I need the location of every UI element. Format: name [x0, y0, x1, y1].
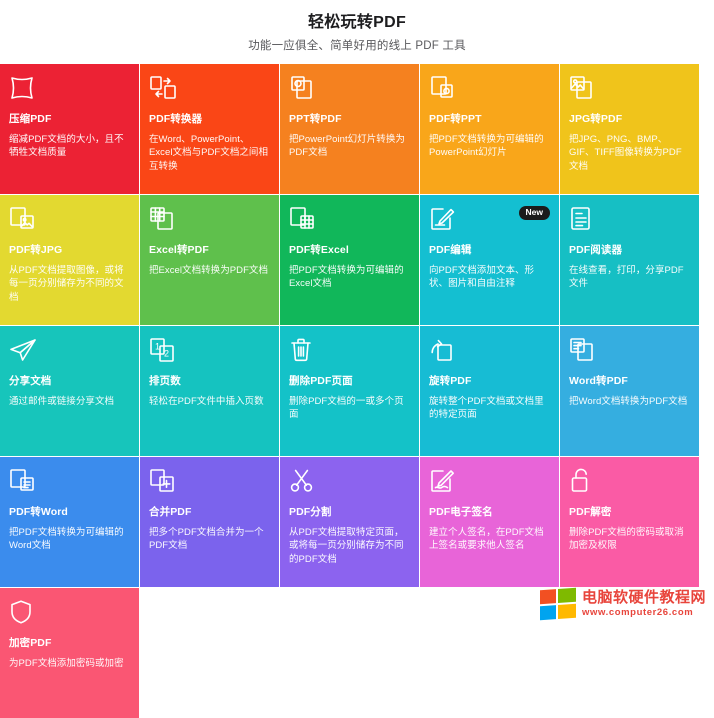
new-badge: New: [519, 206, 550, 220]
tool-card-ppt-to-pdf[interactable]: PPT转PDF把PowerPoint幻灯片转换为PDF文档: [280, 64, 419, 194]
tool-card-title: PDF阅读器: [569, 244, 690, 257]
tool-card-description: 从PDF文档提取特定页面，或将每一页分别储存为不同的PDF文档: [289, 526, 410, 567]
tool-card-merge-pdf[interactable]: 合并PDF把多个PDF文档合并为一个PDF文档: [140, 457, 279, 587]
logo-square-blue: [540, 605, 556, 620]
tool-card-title: Word转PDF: [569, 375, 690, 388]
image-file-icon: [569, 75, 690, 105]
tool-card-description: 在Word、PowerPoint、Excel文档与PDF文档之间相互转换: [149, 133, 270, 174]
tool-card-description: 旋转整个PDF文档或文档里的特定页面: [429, 395, 550, 423]
tool-card-rotate-pdf[interactable]: 旋转PDF旋转整个PDF文档或文档里的特定页面: [420, 326, 559, 456]
paper-plane-icon: [9, 337, 130, 367]
convert-arrows-icon: [149, 75, 270, 105]
tool-card-description: 建立个人签名，在PDF文档上签名或要求他人签名: [429, 526, 550, 554]
tool-card-title: PDF转Excel: [289, 244, 410, 257]
rotate-icon: [429, 337, 550, 367]
excel-file-icon: [149, 206, 270, 236]
pdf-to-excel-icon: [289, 206, 410, 236]
logo-square-yellow: [558, 604, 576, 619]
tool-card-description: 从PDF文档提取图像，或将每一页分别储存为不同的文档: [9, 264, 130, 305]
tool-card-description: 为PDF文档添加密码或加密: [9, 657, 130, 671]
tool-card-title: JPG转PDF: [569, 113, 690, 126]
watermark-text: 电脑软硬件教程网 www.computer26.com: [582, 590, 706, 619]
unlock-icon: [569, 468, 690, 498]
tool-card-description: 删除PDF文档的一或多个页面: [289, 395, 410, 423]
tool-card-title: PDF解密: [569, 506, 690, 519]
document-lines-icon: [569, 206, 690, 236]
tool-card-title: 旋转PDF: [429, 375, 550, 388]
pdf-to-word-icon: [9, 468, 130, 498]
tool-card-excel-to-pdf[interactable]: Excel转PDF把Excel文档转换为PDF文档: [140, 195, 279, 325]
tool-card-compress-pdf[interactable]: 压缩PDF缩减PDF文档的大小，且不牺牲文档质量: [0, 64, 139, 194]
tool-card-pdf-to-excel[interactable]: PDF转Excel把PDF文档转换为可编辑的Excel文档: [280, 195, 419, 325]
tool-card-pdf-encrypt[interactable]: 加密PDF为PDF文档添加密码或加密: [0, 588, 139, 718]
tool-card-title: 分享文档: [9, 375, 130, 388]
tool-card-title: PDF分割: [289, 506, 410, 519]
tool-card-pdf-reader[interactable]: PDF阅读器在线查看，打印，分享PDF文件: [560, 195, 699, 325]
trash-icon: [289, 337, 410, 367]
tool-card-description: 把多个PDF文档合并为一个PDF文档: [149, 526, 270, 554]
scissors-icon: [289, 468, 410, 498]
page-header: 轻松玩转PDF 功能一应俱全、简单好用的线上 PDF 工具: [0, 0, 714, 53]
tool-card-description: 通过邮件或链接分享文档: [9, 395, 130, 409]
tool-card-description: 在线查看，打印，分享PDF文件: [569, 264, 690, 292]
tool-card-description: 把PDF文档转换为可编辑的PowerPoint幻灯片: [429, 133, 550, 161]
tool-card-title: PDF转换器: [149, 113, 270, 126]
tool-card-description: 把PowerPoint幻灯片转换为PDF文档: [289, 133, 410, 161]
tool-card-description: 把PDF文档转换为可编辑的Excel文档: [289, 264, 410, 292]
tool-card-title: 排页数: [149, 375, 270, 388]
tool-card-split-pdf[interactable]: PDF分割从PDF文档提取特定页面，或将每一页分别储存为不同的PDF文档: [280, 457, 419, 587]
tool-card-share-document[interactable]: 分享文档通过邮件或链接分享文档: [0, 326, 139, 456]
tool-card-pdf-to-ppt[interactable]: PDF转PPT把PDF文档转换为可编辑的PowerPoint幻灯片: [420, 64, 559, 194]
tool-card-title: PDF转PPT: [429, 113, 550, 126]
tool-card-title: 加密PDF: [9, 637, 130, 650]
tool-card-description: 轻松在PDF文件中插入页数: [149, 395, 270, 409]
tool-card-grid: 压缩PDF缩减PDF文档的大小，且不牺牲文档质量PDF转换器在Word、Powe…: [0, 64, 714, 718]
tool-card-title: Excel转PDF: [149, 244, 270, 257]
logo-square-red: [540, 589, 556, 604]
tool-card-jpg-to-pdf[interactable]: JPG转PDF把JPG、PNG、BMP、GIF、TIFF图像转换为PDF文档: [560, 64, 699, 194]
tool-card-title: 压缩PDF: [9, 113, 130, 126]
svg-text:1: 1: [155, 342, 160, 352]
tool-card-title: PDF转JPG: [9, 244, 130, 257]
tool-card-description: 把Word文档转换为PDF文档: [569, 395, 690, 409]
tool-card-pdf-esign[interactable]: PDF电子签名建立个人签名，在PDF文档上签名或要求他人签名: [420, 457, 559, 587]
pdf-to-ppt-icon: [429, 75, 550, 105]
tool-card-description: 缩减PDF文档的大小，且不牺牲文档质量: [9, 133, 130, 161]
tool-card-delete-pdf-pages[interactable]: 删除PDF页面删除PDF文档的一或多个页面: [280, 326, 419, 456]
tool-card-title: PDF转Word: [9, 506, 130, 519]
tool-card-title: 删除PDF页面: [289, 375, 410, 388]
tool-card-pdf-to-jpg[interactable]: PDF转JPG从PDF文档提取图像，或将每一页分别储存为不同的文档: [0, 195, 139, 325]
signature-icon: [429, 468, 550, 498]
compress-icon: [9, 75, 130, 105]
tool-card-description: 把PDF文档转换为可编辑的Word文档: [9, 526, 130, 554]
watermark-url: www.computer26.com: [582, 608, 706, 618]
shield-icon: [9, 599, 130, 629]
page-number-icon: 12: [149, 337, 270, 367]
tool-card-pdf-edit[interactable]: PDF编辑向PDF文档添加文本、形状、图片和自由注释New: [420, 195, 559, 325]
tool-card-description: 向PDF文档添加文本、形状、图片和自由注释: [429, 264, 550, 292]
tool-card-pdf-converter[interactable]: PDF转换器在Word、PowerPoint、Excel文档与PDF文档之间相互…: [140, 64, 279, 194]
merge-plus-icon: [149, 468, 270, 498]
tool-card-title: PDF电子签名: [429, 506, 550, 519]
ppt-file-icon: [289, 75, 410, 105]
tool-card-description: 把JPG、PNG、BMP、GIF、TIFF图像转换为PDF文档: [569, 133, 690, 174]
tool-card-description: 把Excel文档转换为PDF文档: [149, 264, 270, 278]
tool-card-title: PPT转PDF: [289, 113, 410, 126]
windows-logo-icon: [540, 588, 576, 621]
tool-card-description: 删除PDF文档的密码或取消加密及权限: [569, 526, 690, 554]
tool-card-title: 合并PDF: [149, 506, 270, 519]
page-subtitle: 功能一应俱全、简单好用的线上 PDF 工具: [0, 37, 714, 53]
watermark-site-name: 电脑软硬件教程网: [582, 590, 706, 607]
site-watermark: 电脑软硬件教程网 www.computer26.com: [540, 589, 706, 619]
tool-card-word-to-pdf[interactable]: Word转PDF把Word文档转换为PDF文档: [560, 326, 699, 456]
tool-card-title: PDF编辑: [429, 244, 550, 257]
logo-square-green: [558, 588, 576, 603]
tool-card-pdf-to-word[interactable]: PDF转Word把PDF文档转换为可编辑的Word文档: [0, 457, 139, 587]
pdf-to-image-icon: [9, 206, 130, 236]
tool-card-page-numbers[interactable]: 12排页数轻松在PDF文件中插入页数: [140, 326, 279, 456]
word-file-icon: [569, 337, 690, 367]
tool-card-pdf-decrypt[interactable]: PDF解密删除PDF文档的密码或取消加密及权限: [560, 457, 699, 587]
page-title: 轻松玩转PDF: [0, 8, 714, 32]
svg-text:2: 2: [164, 349, 169, 359]
